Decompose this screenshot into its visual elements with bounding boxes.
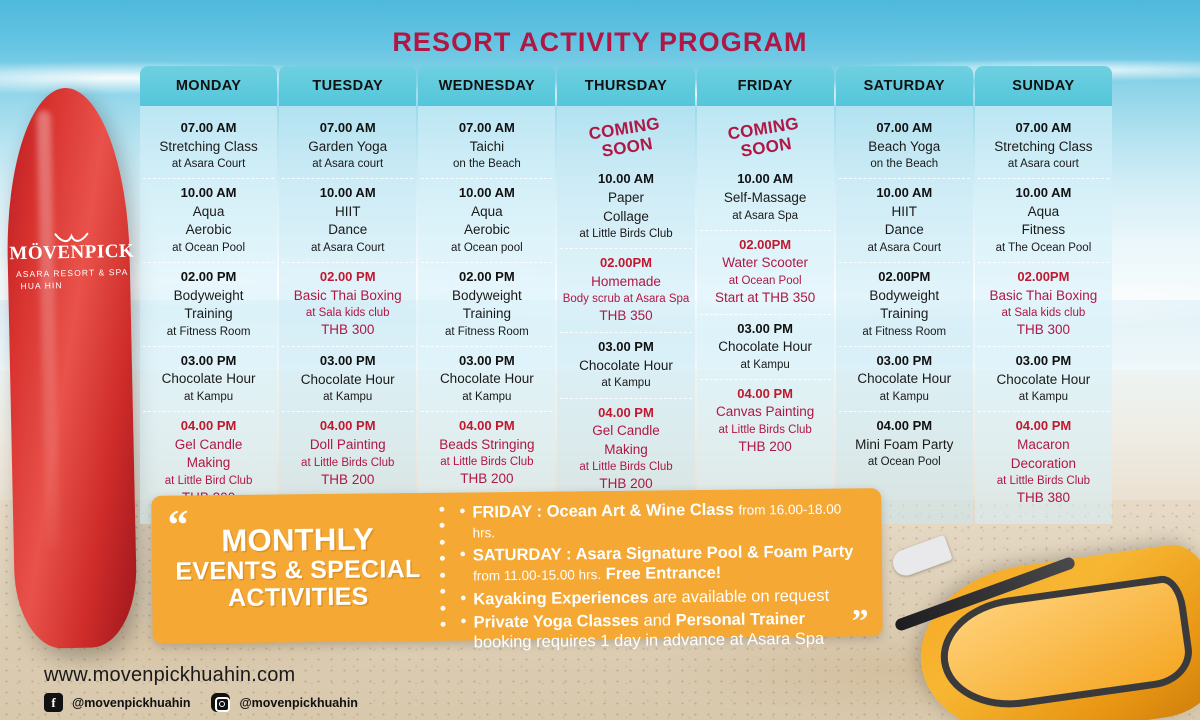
banner-heading-line2: EVENTS & SPECIAL	[152, 555, 444, 585]
slot-time: 04.00 PM	[423, 416, 550, 436]
slot-activity: Chocolate Hour	[841, 370, 968, 389]
slot-activity: Mini Foam Party	[841, 436, 968, 455]
slot-activity: Water Scooter	[702, 254, 829, 273]
slot-activity: Fitness	[980, 221, 1107, 240]
day-column: SUNDAY07.00 AMStretching Classat Asara c…	[975, 66, 1112, 524]
slot-location: at Kampu	[702, 357, 829, 373]
slot-activity: Chocolate Hour	[980, 371, 1107, 390]
slot-time: 07.00 AM	[980, 118, 1107, 138]
slot-activity: Self-Massage	[702, 189, 829, 208]
activity-slot: 04.00 PMMini Foam Partyat Ocean Pool	[839, 411, 970, 476]
movenpick-logo: MÖVENPICK ASARA RESORT & SPA HUA HIN	[7, 231, 136, 292]
slot-location: at The Ocean Pool	[980, 240, 1107, 256]
slot-location: at Asara court	[980, 156, 1107, 172]
slot-time: 03.00 PM	[841, 351, 968, 371]
slot-price: THB 350	[562, 307, 689, 326]
slot-activity: Stretching Class	[145, 138, 272, 157]
slot-time: 03.00 PM	[702, 319, 829, 339]
slot-time: 02.00PM	[841, 267, 968, 287]
slot-price: Start at THB 350	[702, 289, 829, 308]
slot-time: 10.00 AM	[423, 183, 550, 203]
banner-event-item: •Kayaking Experiences are available on r…	[460, 585, 868, 609]
slot-activity: Stretching Class	[980, 138, 1107, 157]
activity-slot: 02.00 PMBasic Thai Boxingat Sala kids cl…	[282, 262, 413, 346]
slot-location: at Asara court	[284, 156, 411, 172]
slot-activity: Aqua	[145, 203, 272, 222]
slot-time: 10.00 AM	[562, 169, 689, 189]
page-title: RESORT ACTIVITY PROGRAM	[0, 27, 1200, 58]
activity-slot: 02.00 PMBodyweightTrainingat Fitness Roo…	[421, 262, 552, 346]
slot-activity: Macaron	[980, 436, 1107, 455]
day-header-sunday[interactable]: SUNDAY	[975, 66, 1112, 106]
slot-location: at Asara Court	[841, 240, 968, 256]
slot-activity: Basic Thai Boxing	[284, 287, 411, 306]
slot-activity: Chocolate Hour	[284, 371, 411, 390]
slot-location: at Little Birds Club	[562, 459, 689, 475]
slot-location: at Kampu	[562, 375, 689, 391]
activity-slot: 03.00 PMChocolate Hourat Kampu	[282, 346, 413, 411]
event-title: FRIDAY : Ocean Art & Wine Class	[472, 501, 734, 522]
slot-activity: Bodyweight	[145, 287, 272, 306]
slot-location: at Kampu	[841, 389, 968, 405]
slot-time: 10.00 AM	[980, 183, 1107, 203]
slot-location: at Sala kids club	[980, 305, 1107, 321]
slot-location: at Ocean Pool	[702, 273, 829, 289]
day-slots: 07.00 AMGarden Yogaat Asara court10.00 A…	[279, 106, 416, 524]
slot-activity: Training	[423, 305, 550, 324]
slot-activity: Beads Stringing	[423, 436, 550, 455]
activity-slot: 10.00 AMHIITDanceat Asara Court	[282, 178, 413, 262]
slot-activity: Paper	[562, 189, 689, 208]
slot-activity: Gel Candle	[145, 436, 272, 455]
activity-slot: 10.00 AMAquaFitnessat The Ocean Pool	[978, 178, 1109, 262]
activity-slot: 03.00 PMChocolate Hourat Kampu	[560, 332, 691, 397]
activity-slot: 03.00 PMChocolate Hourat Kampu	[978, 346, 1109, 411]
website-link[interactable]: www.movenpickhuahin.com	[44, 664, 370, 687]
day-header-thursday[interactable]: THURSDAY	[557, 66, 694, 106]
bullet-icon: •	[460, 546, 466, 564]
slot-time: 04.00 PM	[284, 416, 411, 436]
slot-location: at Asara Spa	[702, 208, 829, 224]
banner-event-text: Kayaking Experiences are available on re…	[473, 585, 829, 609]
slot-activity: Dance	[841, 221, 968, 240]
slot-location: Body scrub at Asara Spa	[562, 291, 689, 307]
slot-activity: Beach Yoga	[841, 138, 968, 157]
activity-slot: 07.00 AMGarden Yogaat Asara court	[282, 114, 413, 178]
bullet-icon: •	[460, 612, 466, 630]
activity-slot: 07.00 AMStretching Classat Asara Court	[143, 114, 274, 178]
slot-location: at Kampu	[423, 389, 550, 405]
activity-slot: 10.00 AMHIITDanceat Asara Court	[839, 178, 970, 262]
event-title: SATURDAY : Asara Signature Pool & Foam P…	[473, 543, 854, 565]
slot-location: on the Beach	[423, 156, 550, 172]
activity-slot: 04.00 PMMacaronDecorationat Little Birds…	[978, 411, 1109, 514]
slot-time: 07.00 AM	[284, 118, 411, 138]
slot-location: at Fitness Room	[423, 324, 550, 340]
slot-location: at Ocean pool	[423, 240, 550, 256]
slot-time: 03.00 PM	[562, 337, 689, 357]
facebook-handle[interactable]: @movenpickhuahin	[72, 696, 190, 710]
slot-time: 02.00PM	[562, 253, 689, 273]
slot-time: 10.00 AM	[284, 183, 411, 203]
slot-location: at Little Birds Club	[980, 473, 1107, 489]
banner-event-item: •SATURDAY : Asara Signature Pool & Foam …	[460, 542, 868, 587]
event-note: booking requires 1 day in advance at Asa…	[474, 630, 825, 652]
slot-time: 07.00 AM	[145, 118, 272, 138]
day-column: WEDNESDAY07.00 AMTaichion the Beach10.00…	[418, 66, 555, 524]
event-title: Kayaking Experiences	[473, 588, 648, 608]
slot-time: 03.00 PM	[980, 351, 1107, 371]
slot-price: THB 200	[423, 470, 550, 489]
slot-activity: Collage	[562, 208, 689, 227]
day-header-wednesday[interactable]: WEDNESDAY	[418, 66, 555, 106]
day-column: MONDAY07.00 AMStretching Classat Asara C…	[140, 66, 277, 524]
slot-activity: Garden Yoga	[284, 138, 411, 157]
slot-activity: Aerobic	[423, 221, 550, 240]
slot-location: at Sala kids club	[284, 305, 411, 321]
activity-slot: 03.00 PMChocolate Hourat Kampu	[143, 346, 274, 411]
slot-location: at Little Bird Club	[145, 473, 272, 489]
slot-activity: Homemade	[562, 273, 689, 292]
slot-location: at Kampu	[145, 389, 272, 405]
activity-slot: 02.00PMHomemadeBody scrub at Asara SpaTH…	[560, 248, 691, 332]
slot-location: at Kampu	[980, 389, 1107, 405]
activity-slot: 04.00 PMCanvas Paintingat Little Birds C…	[700, 379, 831, 463]
slot-time: 03.00 PM	[145, 351, 272, 371]
activity-slot: 02.00PMBodyweightTrainingat Fitness Room	[839, 262, 970, 346]
activity-slot: 10.00 AMSelf-Massageat Asara Spa	[700, 165, 831, 229]
coming-soon-badge: COMINGSOON	[588, 115, 665, 163]
slot-time: 04.00 PM	[562, 403, 689, 423]
slot-location: at Little Birds Club	[702, 422, 829, 438]
slot-time: 02.00 PM	[423, 267, 550, 287]
slot-time: 02.00 PM	[284, 267, 411, 287]
slot-activity: Canvas Painting	[702, 403, 829, 422]
day-column: FRIDAYCOMINGSOON10.00 AMSelf-Massageat A…	[697, 66, 834, 524]
day-column: SATURDAY07.00 AMBeach Yogaon the Beach10…	[836, 66, 973, 524]
activity-slot: 04.00 PMDoll Paintingat Little Birds Clu…	[282, 411, 413, 495]
banner-heading-line1: MONTHLY	[152, 523, 444, 559]
slot-time: 07.00 AM	[841, 118, 968, 138]
banner-event-text: SATURDAY : Asara Signature Pool & Foam P…	[473, 542, 854, 586]
coming-soon-badge: COMINGSOON	[727, 115, 804, 163]
slot-activity: Making	[562, 441, 689, 460]
day-column: THURSDAYCOMINGSOON10.00 AMPaperCollageat…	[557, 66, 694, 524]
brand-subtitle-1: ASARA RESORT & SPA	[8, 267, 136, 280]
event-title: Private Yoga Classes	[473, 611, 639, 631]
slot-activity: Making	[145, 454, 272, 473]
brand-name: MÖVENPICK	[8, 241, 136, 266]
slot-price: THB 300	[284, 321, 411, 340]
activity-schedule-grid: MONDAY07.00 AMStretching Classat Asara C…	[140, 66, 1112, 524]
slot-location: on the Beach	[841, 156, 968, 172]
event-note: and	[643, 611, 671, 629]
day-slots: 07.00 AMStretching Classat Asara Court10…	[140, 106, 277, 524]
activity-slot: 02.00PMWater Scooterat Ocean PoolStart a…	[700, 230, 831, 314]
activity-slot: 03.00 PMChocolate Hourat Kampu	[839, 346, 970, 411]
slot-activity: Basic Thai Boxing	[980, 287, 1107, 306]
banner-heading: MONTHLY EVENTS & SPECIAL ACTIVITIES	[152, 523, 445, 613]
day-slots: 07.00 AMBeach Yogaon the Beach10.00 AMHI…	[836, 106, 973, 524]
slot-time: 04.00 PM	[702, 384, 829, 404]
day-slots: COMINGSOON10.00 AMPaperCollageat Little …	[557, 106, 694, 524]
slot-time: 07.00 AM	[423, 118, 550, 138]
instagram-handle[interactable]: @movenpickhuahin	[239, 696, 357, 710]
banner-event-list: •FRIDAY : Ocean Art & Wine Class from 16…	[443, 488, 883, 641]
slot-time: 03.00 PM	[284, 351, 411, 371]
slot-activity: Doll Painting	[284, 436, 411, 455]
activity-slot: 07.00 AMBeach Yogaon the Beach	[839, 114, 970, 178]
slot-activity: HIIT	[284, 203, 411, 222]
activity-slot: 10.00 AMAquaAerobicat Ocean pool	[421, 178, 552, 262]
slot-activity: Aqua	[980, 203, 1107, 222]
slot-time: 04.00 PM	[841, 416, 968, 436]
slot-price: THB 300	[980, 321, 1107, 340]
slot-time: 10.00 AM	[145, 183, 272, 203]
slot-time: 04.00 PM	[145, 416, 272, 436]
slot-activity: Bodyweight	[841, 287, 968, 306]
banner-heading-area: “ MONTHLY EVENTS & SPECIAL ACTIVITIES	[151, 493, 445, 644]
event-title-2: Personal Trainer	[676, 610, 805, 629]
slot-time: 02.00PM	[702, 235, 829, 255]
slot-location: at Little Birds Club	[562, 226, 689, 242]
slot-activity: Chocolate Hour	[423, 370, 550, 389]
slot-activity: Taichi	[423, 138, 550, 157]
social-links: f @movenpickhuahin @movenpickhuahin	[44, 693, 370, 712]
slot-location: at Ocean Pool	[145, 240, 272, 256]
slot-time: 02.00PM	[980, 267, 1107, 287]
slot-location: at Fitness Room	[841, 324, 968, 340]
banner-event-item: •FRIDAY : Ocean Art & Wine Class from 16…	[459, 498, 867, 543]
slot-location: at Kampu	[284, 389, 411, 405]
day-header-monday[interactable]: MONDAY	[140, 66, 277, 106]
slot-price: THB 200	[702, 438, 829, 457]
activity-slot: 03.00 PMChocolate Hourat Kampu	[421, 346, 552, 411]
banner-divider-dots	[439, 507, 446, 627]
slot-activity: Aerobic	[145, 221, 272, 240]
activity-slot: 07.00 AMStretching Classat Asara court	[978, 114, 1109, 178]
event-time: from 11.00-15.00 hrs.	[473, 567, 601, 583]
slot-location: at Little Birds Club	[284, 455, 411, 471]
activity-slot: 04.00 PMBeads Stringingat Little Birds C…	[421, 411, 552, 495]
slot-time: 03.00 PM	[423, 351, 550, 371]
day-slots: COMINGSOON10.00 AMSelf-Massageat Asara S…	[697, 106, 834, 524]
banner-heading-line3: ACTIVITIES	[152, 582, 444, 612]
slot-location: at Asara Court	[284, 240, 411, 256]
activity-slot: 04.00 PMGel CandleMakingat Little Birds …	[560, 398, 691, 501]
banner-event-text: Private Yoga Classes and Personal Traine…	[473, 608, 824, 652]
slot-activity: Training	[841, 305, 968, 324]
activity-slot: 03.00 PMChocolate Hourat Kampu	[700, 314, 831, 379]
slot-time: 10.00 AM	[702, 169, 829, 189]
slot-location: at Fitness Room	[145, 324, 272, 340]
slot-activity: HIIT	[841, 203, 968, 222]
slot-activity: Chocolate Hour	[562, 357, 689, 376]
banner-event-text: FRIDAY : Ocean Art & Wine Class from 16.…	[472, 498, 867, 542]
slot-location: at Ocean Pool	[841, 454, 968, 470]
day-slots: 07.00 AMStretching Classat Asara court10…	[975, 106, 1112, 524]
day-header-friday[interactable]: FRIDAY	[697, 66, 834, 106]
event-note: are available on request	[653, 586, 829, 606]
activity-slot: 02.00 PMBodyweightTrainingat Fitness Roo…	[143, 262, 274, 346]
day-column: TUESDAY07.00 AMGarden Yogaat Asara court…	[279, 66, 416, 524]
day-header-tuesday[interactable]: TUESDAY	[279, 66, 416, 106]
slot-time: 04.00 PM	[980, 416, 1107, 436]
slot-location: at Little Birds Club	[423, 454, 550, 470]
slot-price: THB 200	[284, 471, 411, 490]
slot-time: 02.00 PM	[145, 267, 272, 287]
slot-location: at Asara Court	[145, 156, 272, 172]
slot-activity: Decoration	[980, 455, 1107, 474]
event-highlight: Free Entrance!	[606, 564, 722, 583]
activity-slot: 07.00 AMTaichion the Beach	[421, 114, 552, 178]
facebook-icon[interactable]: f	[44, 693, 63, 712]
slot-activity: Dance	[284, 221, 411, 240]
activity-slot: 10.00 AMAquaAerobicat Ocean Pool	[143, 178, 274, 262]
activity-slot: 02.00PMBasic Thai Boxingat Sala kids clu…	[978, 262, 1109, 346]
bullet-icon: •	[460, 589, 466, 607]
day-slots: 07.00 AMTaichion the Beach10.00 AMAquaAe…	[418, 106, 555, 524]
monthly-events-banner: “ MONTHLY EVENTS & SPECIAL ACTIVITIES •F…	[151, 488, 883, 644]
activity-slot: 10.00 AMPaperCollageat Little Birds Club	[560, 165, 691, 248]
slot-activity: Bodyweight	[423, 287, 550, 306]
bullet-icon: •	[459, 503, 465, 521]
instagram-icon[interactable]	[211, 693, 230, 712]
day-header-saturday[interactable]: SATURDAY	[836, 66, 973, 106]
slot-activity: Chocolate Hour	[702, 338, 829, 357]
quote-close-mark: ”	[852, 613, 869, 630]
banner-event-item: •Private Yoga Classes and Personal Train…	[460, 608, 868, 653]
slot-activity: Gel Candle	[562, 422, 689, 441]
slot-price: THB 380	[980, 489, 1107, 508]
footer: www.movenpickhuahin.com f @movenpickhuah…	[44, 664, 370, 712]
surfboard-graphic	[4, 87, 138, 649]
slot-activity: Training	[145, 305, 272, 324]
slot-activity: Chocolate Hour	[145, 370, 272, 389]
slot-time: 10.00 AM	[841, 183, 968, 203]
slot-activity: Aqua	[423, 203, 550, 222]
